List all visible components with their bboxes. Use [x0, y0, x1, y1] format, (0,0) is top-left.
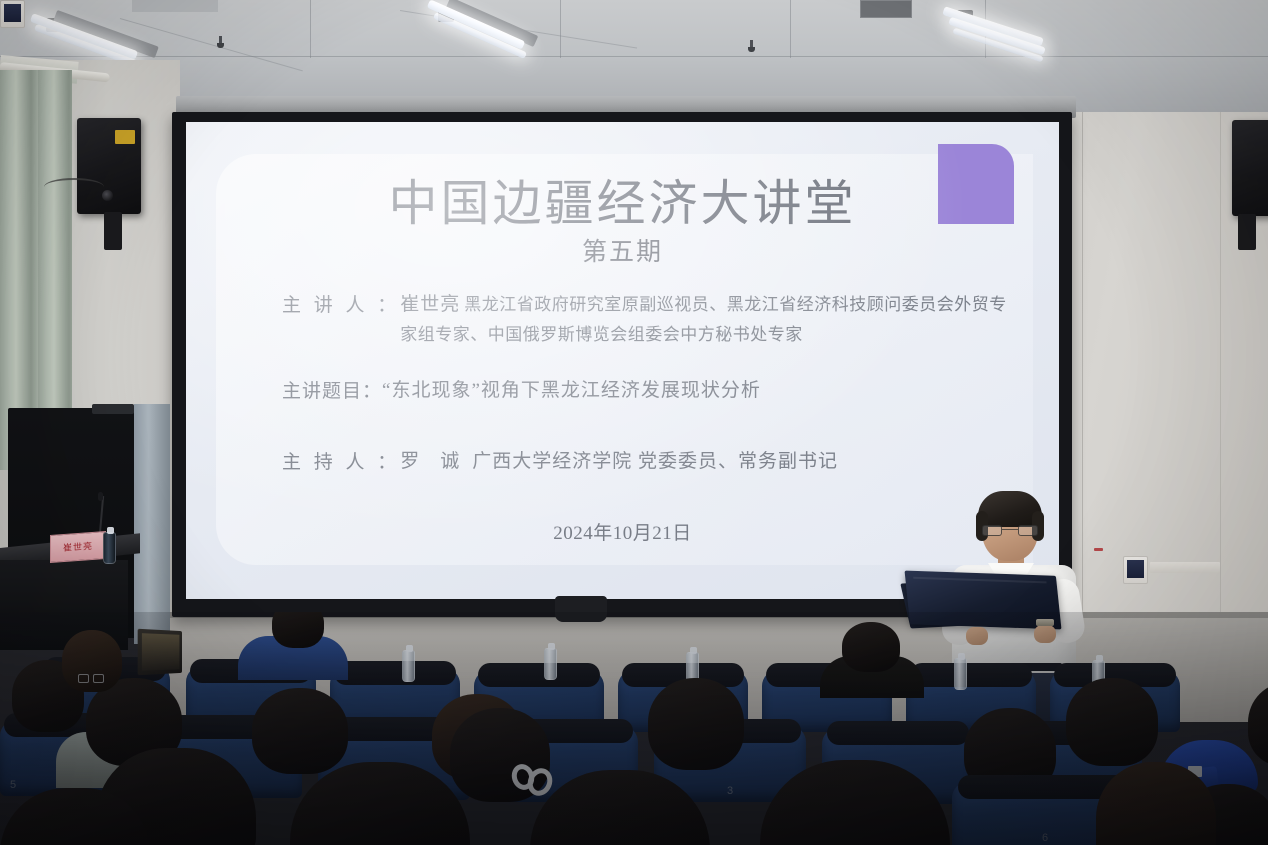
water-bottle — [954, 658, 967, 690]
audience-head — [252, 688, 348, 774]
av-cabinet-top — [92, 404, 134, 414]
water-bottle — [103, 532, 116, 564]
slide-subtitle: 第五期 — [186, 232, 1059, 268]
slide-content: 中国边疆经济大讲堂 第五期 主 讲 人 ： 崔世亮 黑龙江省政府研究室原副巡视员… — [186, 122, 1059, 599]
speaker-affiliation: 黑龙江省政府研究室原副巡视员、黑龙江省经济科技顾问委员会外贸专家组专家、中国俄罗… — [400, 295, 1007, 344]
slide-row-speaker: 主 讲 人 ： 崔世亮 黑龙江省政府研究室原副巡视员、黑龙江省经济科技顾问委员会… — [282, 290, 1017, 348]
slide-title: 中国边疆经济大讲堂 — [186, 164, 1059, 235]
host-affiliation: 广西大学经济学院 党委委员、常务副书记 — [472, 451, 838, 472]
wall-speaker-left — [77, 118, 141, 214]
av-cabinet-side-panel — [134, 404, 170, 644]
host-name: 罗 诚 — [400, 451, 460, 472]
presenter-glasses-icon — [982, 525, 1038, 536]
slide-info-rows: 主 讲 人 ： 崔世亮 黑龙江省政府研究室原副巡视员、黑龙江省经济科技顾问委员会… — [282, 290, 1017, 482]
laptop-screen — [138, 629, 182, 675]
audience-head — [1066, 678, 1158, 766]
microphone-icon — [98, 492, 103, 501]
sprinkler-icon — [217, 36, 224, 49]
slide-row-host: 主 持 人 ： 罗 诚 广西大学经济学院 党委委员、常务副书记 — [282, 447, 1017, 478]
slide-date: 2024年10月21日 — [186, 518, 1059, 545]
speaker-cable — [44, 178, 104, 196]
speaker-label: 主 讲 人 ： — [282, 290, 400, 317]
wall-outlet-right[interactable] — [1123, 556, 1148, 584]
projection-screen: 中国边疆经济大讲堂 第五期 主 讲 人 ： 崔世亮 黑龙江省政府研究室原副巡视员… — [186, 122, 1059, 599]
hair-ribbon — [512, 764, 558, 806]
ceiling-vent — [860, 0, 912, 18]
water-bottle — [402, 650, 415, 682]
audience-head — [648, 678, 744, 770]
water-bottle — [544, 648, 557, 680]
ceiling-light-fixture — [420, 8, 550, 68]
audience-head — [1248, 682, 1268, 766]
audience-head — [842, 622, 900, 672]
name-card-text: 崔世亮 — [63, 541, 93, 552]
speaker-label-sticker — [115, 130, 135, 144]
audience-area: 3 3 5 — [0, 612, 1268, 845]
wall-outlet-left[interactable] — [0, 0, 25, 28]
wall-speaker-right — [1232, 120, 1268, 216]
podium-name-card: 崔世亮 — [50, 531, 106, 563]
slide-row-topic: 主讲题目： “东北现象”视角下黑龙江经济发展现状分析 — [282, 376, 1017, 407]
wall-trunking — [1150, 562, 1220, 573]
sprinkler-icon — [748, 40, 755, 53]
audience-head — [272, 612, 324, 648]
speaker-name: 崔世亮 — [400, 294, 460, 315]
host-label: 主 持 人 ： — [282, 447, 400, 474]
topic-label: 主讲题目： — [282, 376, 382, 403]
lecture-hall-photo: 中国边疆经济大讲堂 第五期 主 讲 人 ： 崔世亮 黑龙江省政府研究室原副巡视员… — [0, 0, 1268, 845]
audience-glasses-icon — [78, 674, 104, 683]
speaker-bracket-right — [1238, 214, 1256, 250]
speaker-bracket-left — [104, 212, 122, 250]
topic-value: “东北现象”视角下黑龙江经济发展现状分析 — [382, 376, 761, 407]
ceiling-light-fixture — [935, 10, 1065, 70]
ceiling-vent — [132, 0, 218, 12]
